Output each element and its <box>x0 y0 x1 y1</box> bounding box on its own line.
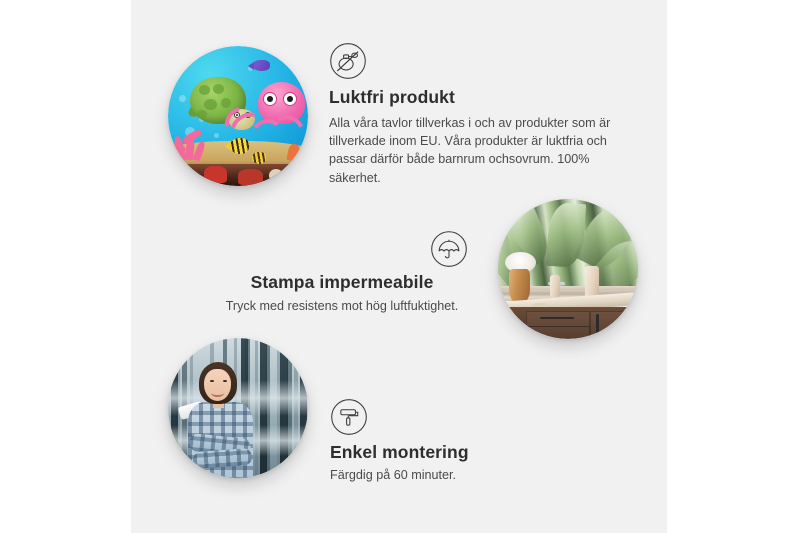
feature-block-odorless: Luktfri produkt Alla våra tavlor tillver… <box>329 42 629 187</box>
photo-woman-with-roller-forest <box>168 338 308 478</box>
photo-bathroom-leaf-wallpaper <box>498 199 638 339</box>
promo-canvas: Luktfri produkt Alla våra tavlor tillver… <box>0 0 800 533</box>
photo-underwater-kids-mural <box>168 46 308 186</box>
icon-wrap-waterproof <box>216 230 468 268</box>
feature-heading-waterproof: Stampa impermeabile <box>216 272 468 294</box>
feature-body-odorless: Alla våra tavlor tillverkas i och av pro… <box>329 114 629 187</box>
no-fragrance-icon <box>329 42 367 80</box>
feature-heading-easy-mounting: Enkel montering <box>330 442 610 464</box>
feature-block-easy-mounting: Enkel montering Färgdig på 60 minuter. <box>330 398 610 484</box>
feature-body-waterproof: Tryck med resistens mot hög luftfuktighe… <box>216 297 468 315</box>
feature-block-waterproof: Stampa impermeabile Tryck med resistens … <box>216 230 468 315</box>
icon-wrap-odorless <box>329 42 629 80</box>
icon-wrap-easy-mounting <box>330 398 610 436</box>
paint-roller-icon <box>330 398 368 436</box>
feature-body-easy-mounting: Färgdig på 60 minuter. <box>330 466 610 484</box>
umbrella-icon <box>430 230 468 268</box>
feature-heading-odorless: Luktfri produkt <box>329 87 629 109</box>
